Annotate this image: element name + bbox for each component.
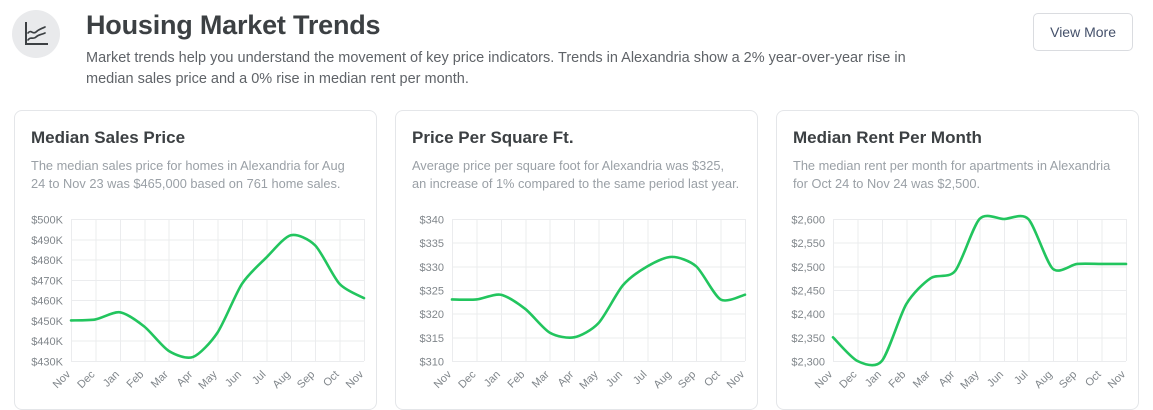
card-description: The median rent per month for apartments… [793, 157, 1122, 193]
x-axis-tick-label: Nov [51, 368, 74, 391]
x-axis-tick-label: Jan [863, 369, 884, 390]
y-axis-tick-label: $335 [420, 238, 444, 250]
y-axis-tick-label: $470K [31, 275, 63, 287]
x-axis-tick-label: Jun [604, 369, 625, 390]
y-axis-tick-label: $490K [31, 235, 63, 247]
chart-median-rent-per-month[interactable]: $2,600$2,550$2,500$2,450$2,400$2,350$2,3… [777, 209, 1138, 409]
x-axis-tick-label: Jul [1012, 369, 1030, 387]
x-axis-tick-label: Feb [505, 369, 527, 391]
y-axis-tick-label: $440K [31, 336, 63, 348]
card-title: Median Rent Per Month [793, 127, 1122, 149]
y-axis-tick-label: $320 [420, 309, 444, 321]
x-axis-tick-label: Jan [482, 369, 503, 390]
y-axis-tick-label: $340 [420, 215, 444, 227]
x-axis-tick-label: Oct [1083, 369, 1104, 390]
x-axis-tick-label: Mar [149, 368, 171, 390]
x-axis-tick-label: Jul [631, 369, 649, 387]
x-axis-tick-label: Aug [271, 369, 293, 391]
page-subtitle: Market trends help you understand the mo… [86, 48, 916, 90]
x-axis-tick-label: Oct [702, 369, 723, 390]
card-title: Price Per Square Ft. [412, 127, 741, 149]
card-median-rent-per-month: Median Rent Per Month The median rent pe… [776, 110, 1139, 410]
x-axis-tick-label: Sep [676, 369, 698, 391]
x-axis-tick-label: Dec [456, 368, 479, 391]
card-median-sales-price: Median Sales Price The median sales pric… [14, 110, 377, 410]
y-axis-tick-label: $2,350 [791, 333, 825, 345]
page-header: Housing Market Trends Market trends help… [0, 0, 1153, 100]
card-description: Average price per square foot for Alexan… [412, 157, 741, 193]
x-axis-tick-label: Apr [937, 368, 958, 389]
x-axis-tick-label: Nov [1106, 368, 1129, 391]
y-axis-tick-label: $2,500 [791, 262, 825, 274]
x-axis-tick-label: Apr [556, 368, 577, 389]
y-axis-tick-label: $310 [420, 357, 444, 369]
y-axis-tick-label: $2,550 [791, 238, 825, 250]
y-axis-tick-label: $450K [31, 316, 63, 328]
trend-cards-row: Median Sales Price The median sales pric… [0, 110, 1153, 410]
chart-median-sales-price[interactable]: $500K$490K$480K$470K$460K$450K$440K$430K… [15, 209, 376, 409]
y-axis-tick-label: $2,400 [791, 309, 825, 321]
chart-price-per-square-ft[interactable]: $340$335$330$325$320$315$310NovDecJanFeb… [396, 209, 757, 409]
x-axis-tick-label: Sep [295, 369, 317, 391]
view-more-button[interactable]: View More [1033, 13, 1133, 51]
x-axis-tick-label: Jan [101, 369, 122, 390]
x-axis-tick-label: Feb [124, 369, 146, 391]
x-axis-tick-label: Feb [886, 369, 908, 391]
header-text-block: Housing Market Trends Market trends help… [86, 8, 1006, 90]
x-axis-tick-label: Oct [321, 369, 342, 390]
x-axis-tick-label: May [577, 368, 601, 392]
y-axis-tick-label: $2,300 [791, 357, 825, 369]
card-description: The median sales price for homes in Alex… [31, 157, 360, 193]
y-axis-tick-label: $500K [31, 215, 63, 227]
y-axis-tick-label: $2,450 [791, 286, 825, 298]
x-axis-tick-label: Jul [250, 369, 268, 387]
y-axis-tick-label: $480K [31, 255, 63, 267]
card-price-per-square-ft: Price Per Square Ft. Average price per s… [395, 110, 758, 410]
x-axis-tick-label: Aug [652, 369, 674, 391]
x-axis-tick-label: Aug [1033, 369, 1055, 391]
x-axis-tick-label: Sep [1057, 369, 1079, 391]
x-axis-tick-label: May [196, 368, 220, 392]
x-axis-tick-label: Apr [175, 368, 196, 389]
y-axis-tick-label: $460K [31, 296, 63, 308]
x-axis-tick-label: May [958, 368, 982, 392]
x-axis-tick-label: Jun [985, 369, 1006, 390]
x-axis-tick-label: Dec [837, 368, 860, 391]
y-axis-tick-label: $325 [420, 286, 444, 298]
x-axis-tick-label: Jun [223, 369, 244, 390]
line-chart-icon [12, 10, 60, 58]
card-title: Median Sales Price [31, 127, 360, 149]
x-axis-tick-label: Nov [725, 368, 748, 391]
x-axis-tick-label: Dec [75, 368, 98, 391]
y-axis-tick-label: $315 [420, 333, 444, 345]
y-axis-tick-label: $430K [31, 357, 63, 369]
y-axis-tick-label: $2,600 [791, 215, 825, 227]
x-axis-tick-label: Nov [344, 368, 367, 391]
y-axis-tick-label: $330 [420, 262, 444, 274]
x-axis-tick-label: Mar [911, 368, 933, 390]
x-axis-tick-label: Mar [530, 368, 552, 390]
x-axis-tick-label: Nov [813, 368, 836, 391]
page-title: Housing Market Trends [86, 8, 1006, 42]
housing-market-trends-page: Housing Market Trends Market trends help… [0, 0, 1153, 410]
x-axis-tick-label: Nov [432, 368, 455, 391]
